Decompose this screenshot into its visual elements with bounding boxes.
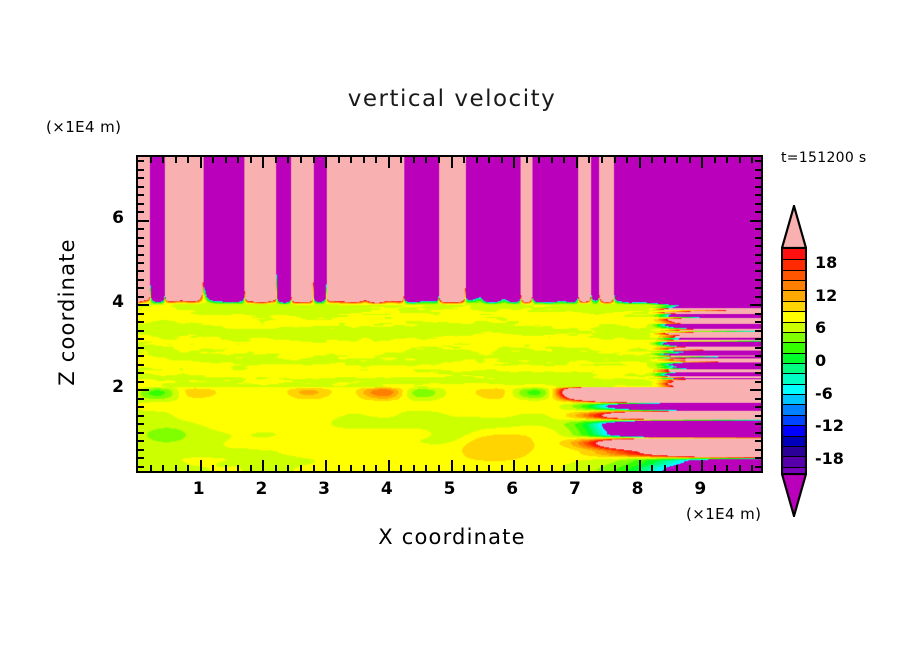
time-stamp-label: t=151200 s — [781, 150, 866, 166]
axis-tick-minor — [588, 465, 590, 471]
axis-tick-minor — [375, 157, 377, 163]
axis-tick-minor — [138, 228, 144, 230]
axis-tick-minor — [138, 381, 144, 383]
colorbar-band-separator — [783, 280, 805, 281]
axis-tick-minor — [463, 157, 465, 163]
colorbar-band — [783, 425, 805, 436]
colorbar-band-separator — [783, 311, 805, 312]
x-axis-title: X coordinate — [0, 525, 904, 549]
colorbar-band — [783, 311, 805, 322]
axis-tick-minor — [438, 465, 440, 471]
colorbar-tick-label: 18 — [815, 253, 837, 272]
axis-tick-minor — [755, 406, 761, 408]
axis-tick-major — [262, 460, 264, 471]
axis-tick-minor — [526, 465, 528, 471]
colorbar-tick-label: -12 — [815, 416, 844, 435]
colorbar-band-separator — [783, 384, 805, 385]
axis-tick-minor — [726, 465, 728, 471]
axis-tick-major — [200, 157, 202, 168]
axis-tick-minor — [755, 237, 761, 239]
colorbar-band — [783, 290, 805, 301]
axis-tick-minor — [138, 262, 144, 264]
x-tick-label: 6 — [497, 479, 527, 499]
axis-tick-minor — [601, 465, 603, 471]
axis-tick-minor — [488, 465, 490, 471]
axis-tick-minor — [250, 465, 252, 471]
axis-tick-minor — [689, 465, 691, 471]
page-title: vertical velocity — [0, 86, 904, 112]
axis-tick-minor — [138, 186, 144, 188]
colorbar-under-range-arrow-icon — [781, 473, 807, 517]
axis-tick-minor — [755, 279, 761, 281]
axis-tick-minor — [664, 465, 666, 471]
z-axis-unit-label: (×1E4 m) — [46, 118, 121, 136]
axis-tick-minor — [739, 157, 741, 163]
axis-tick-minor — [755, 262, 761, 264]
axis-tick-minor — [755, 228, 761, 230]
axis-tick-minor — [138, 338, 144, 340]
axis-tick-major — [388, 157, 390, 168]
axis-tick-minor — [138, 355, 144, 357]
axis-tick-minor — [138, 466, 144, 468]
axis-tick-major — [138, 304, 149, 306]
axis-tick-minor — [212, 465, 214, 471]
axis-tick-minor — [614, 465, 616, 471]
axis-tick-major — [138, 220, 149, 222]
colorbar-band-separator — [783, 456, 805, 457]
colorbar-band — [783, 436, 805, 447]
axis-tick-major — [750, 220, 761, 222]
axis-tick-minor — [138, 211, 144, 213]
axis-tick-minor — [138, 287, 144, 289]
axis-tick-minor — [138, 270, 144, 272]
axis-tick-minor — [614, 157, 616, 163]
axis-tick-minor — [413, 157, 415, 163]
axis-tick-minor — [138, 347, 144, 349]
axis-tick-minor — [689, 157, 691, 163]
axis-tick-minor — [138, 169, 144, 171]
axis-tick-minor — [714, 157, 716, 163]
axis-tick-minor — [138, 398, 144, 400]
x-axis-unit-label: (×1E4 m) — [686, 505, 761, 523]
x-tick-label: 5 — [435, 479, 465, 499]
axis-tick-minor — [350, 157, 352, 163]
axis-tick-minor — [755, 415, 761, 417]
axis-tick-minor — [755, 245, 761, 247]
axis-tick-minor — [755, 347, 761, 349]
axis-tick-minor — [162, 465, 164, 471]
colorbar-band-separator — [783, 373, 805, 374]
axis-tick-minor — [551, 465, 553, 471]
colorbar-band — [783, 332, 805, 343]
colorbar-band — [783, 363, 805, 374]
axis-tick-major — [262, 157, 264, 168]
axis-tick-minor — [225, 465, 227, 471]
colorbar-tick-label: 12 — [815, 286, 837, 305]
axis-tick-minor — [476, 465, 478, 471]
x-tick-label: 4 — [372, 479, 402, 499]
axis-tick-major — [750, 304, 761, 306]
axis-tick-major — [750, 389, 761, 391]
axis-tick-minor — [338, 157, 340, 163]
axis-tick-minor — [313, 465, 315, 471]
contour-plot-area — [136, 155, 763, 473]
colorbar-band-separator — [783, 290, 805, 291]
colorbar-band-separator — [783, 446, 805, 447]
colorbar-band — [783, 353, 805, 364]
axis-tick-minor — [755, 355, 761, 357]
colorbar-band — [783, 342, 805, 353]
axis-tick-minor — [726, 157, 728, 163]
axis-tick-minor — [755, 364, 761, 366]
axis-tick-minor — [588, 157, 590, 163]
colorbar-band-separator — [783, 270, 805, 271]
axis-tick-minor — [250, 157, 252, 163]
axis-tick-minor — [138, 279, 144, 281]
axis-tick-major — [138, 389, 149, 391]
colorbar-band-separator — [783, 394, 805, 395]
x-tick-label: 9 — [685, 479, 715, 499]
axis-tick-minor — [626, 157, 628, 163]
axis-tick-minor — [413, 465, 415, 471]
colorbar-band — [783, 415, 805, 426]
colorbar-band-separator — [783, 436, 805, 437]
colorbar-band-separator — [783, 467, 805, 468]
colorbar-bands — [781, 247, 807, 475]
axis-tick-minor — [714, 465, 716, 471]
axis-tick-minor — [755, 432, 761, 434]
axis-tick-minor — [400, 465, 402, 471]
y-axis-title: Z coordinate — [55, 202, 79, 422]
axis-tick-minor — [651, 465, 653, 471]
axis-tick-major — [513, 460, 515, 471]
axis-tick-minor — [363, 465, 365, 471]
colorbar-band-separator — [783, 342, 805, 343]
x-tick-label: 7 — [560, 479, 590, 499]
axis-tick-major — [701, 157, 703, 168]
axis-tick-minor — [138, 296, 144, 298]
axis-tick-minor — [275, 465, 277, 471]
axis-tick-minor — [601, 157, 603, 163]
colorbar-tick-label: -6 — [815, 384, 833, 403]
axis-tick-minor — [187, 465, 189, 471]
axis-tick-minor — [150, 157, 152, 163]
colorbar-band-separator — [783, 425, 805, 426]
colorbar-band — [783, 394, 805, 405]
axis-tick-minor — [651, 157, 653, 163]
colorbar-tick-label: 6 — [815, 318, 826, 337]
colorbar-band-separator — [783, 322, 805, 323]
axis-tick-major — [513, 157, 515, 168]
colorbar-band-separator — [783, 259, 805, 260]
y-tick-label: 6 — [100, 208, 124, 228]
axis-tick-minor — [138, 449, 144, 451]
axis-tick-minor — [138, 415, 144, 417]
axis-tick-minor — [237, 157, 239, 163]
axis-tick-minor — [755, 296, 761, 298]
axis-tick-minor — [425, 157, 427, 163]
y-tick-label: 4 — [100, 292, 124, 312]
axis-tick-minor — [138, 372, 144, 374]
axis-tick-minor — [138, 194, 144, 196]
axis-tick-minor — [175, 465, 177, 471]
axis-tick-minor — [138, 177, 144, 179]
axis-tick-major — [701, 460, 703, 471]
axis-tick-minor — [350, 465, 352, 471]
axis-tick-minor — [138, 245, 144, 247]
colorbar-band — [783, 384, 805, 395]
axis-tick-minor — [538, 157, 540, 163]
axis-tick-minor — [755, 287, 761, 289]
axis-tick-minor — [237, 465, 239, 471]
colorbar-band — [783, 249, 805, 260]
axis-tick-minor — [755, 254, 761, 256]
axis-tick-minor — [138, 237, 144, 239]
axis-tick-major — [576, 460, 578, 471]
axis-tick-major — [451, 157, 453, 168]
x-tick-label: 8 — [623, 479, 653, 499]
axis-tick-minor — [755, 270, 761, 272]
axis-tick-minor — [755, 321, 761, 323]
axis-tick-minor — [755, 160, 761, 162]
axis-tick-minor — [438, 157, 440, 163]
colorbar-band — [783, 322, 805, 333]
axis-tick-minor — [526, 157, 528, 163]
axis-tick-minor — [755, 313, 761, 315]
axis-tick-minor — [425, 465, 427, 471]
axis-tick-minor — [313, 157, 315, 163]
axis-tick-minor — [300, 465, 302, 471]
axis-tick-minor — [138, 254, 144, 256]
axis-tick-minor — [138, 423, 144, 425]
axis-tick-minor — [755, 423, 761, 425]
axis-tick-minor — [476, 157, 478, 163]
axis-tick-minor — [751, 465, 753, 471]
axis-tick-minor — [138, 330, 144, 332]
axis-tick-minor — [138, 321, 144, 323]
axis-tick-minor — [501, 157, 503, 163]
axis-tick-minor — [755, 338, 761, 340]
colorbar-band — [783, 259, 805, 270]
axis-tick-minor — [563, 157, 565, 163]
colorbar-band-separator — [783, 415, 805, 416]
axis-tick-minor — [275, 157, 277, 163]
axis-tick-minor — [755, 440, 761, 442]
axis-tick-major — [200, 460, 202, 471]
colorbar-tick-label: -18 — [815, 449, 844, 468]
axis-tick-minor — [626, 465, 628, 471]
axis-tick-minor — [162, 157, 164, 163]
colorbar: 181260-6-12-18 — [781, 205, 807, 515]
axis-tick-minor — [755, 203, 761, 205]
axis-tick-major — [639, 460, 641, 471]
axis-tick-minor — [338, 465, 340, 471]
colorbar-band — [783, 404, 805, 415]
axis-tick-minor — [755, 381, 761, 383]
colorbar-band-separator — [783, 332, 805, 333]
colorbar-band — [783, 270, 805, 281]
colorbar-band — [783, 446, 805, 457]
axis-tick-major — [325, 460, 327, 471]
axis-tick-minor — [538, 465, 540, 471]
vertical-velocity-field — [138, 157, 761, 471]
axis-tick-minor — [751, 157, 753, 163]
axis-tick-minor — [138, 203, 144, 205]
axis-tick-minor — [676, 157, 678, 163]
colorbar-band-separator — [783, 301, 805, 302]
colorbar-band — [783, 373, 805, 384]
axis-tick-minor — [463, 465, 465, 471]
axis-tick-minor — [676, 465, 678, 471]
axis-tick-minor — [755, 466, 761, 468]
axis-tick-minor — [138, 440, 144, 442]
axis-tick-minor — [225, 157, 227, 163]
x-tick-label: 3 — [309, 479, 339, 499]
axis-tick-minor — [138, 457, 144, 459]
axis-tick-minor — [755, 177, 761, 179]
axis-tick-minor — [375, 465, 377, 471]
axis-tick-minor — [739, 465, 741, 471]
colorbar-band-separator — [783, 404, 805, 405]
axis-tick-minor — [138, 160, 144, 162]
colorbar-band — [783, 456, 805, 467]
axis-tick-minor — [138, 313, 144, 315]
colorbar-band-separator — [783, 363, 805, 364]
colorbar-band — [783, 280, 805, 291]
axis-tick-major — [639, 157, 641, 168]
axis-tick-minor — [150, 465, 152, 471]
axis-tick-minor — [755, 194, 761, 196]
axis-tick-major — [576, 157, 578, 168]
axis-tick-major — [451, 460, 453, 471]
colorbar-over-range-arrow-icon — [781, 205, 807, 249]
axis-tick-minor — [755, 449, 761, 451]
axis-tick-minor — [363, 157, 365, 163]
axis-tick-minor — [287, 157, 289, 163]
axis-tick-minor — [138, 364, 144, 366]
axis-tick-minor — [488, 157, 490, 163]
axis-tick-minor — [755, 169, 761, 171]
x-tick-label: 2 — [246, 479, 276, 499]
colorbar-band-separator — [783, 353, 805, 354]
axis-tick-minor — [187, 157, 189, 163]
axis-tick-minor — [664, 157, 666, 163]
axis-tick-minor — [563, 465, 565, 471]
axis-tick-minor — [755, 186, 761, 188]
axis-tick-minor — [755, 211, 761, 213]
axis-tick-major — [325, 157, 327, 168]
axis-tick-minor — [755, 330, 761, 332]
axis-tick-minor — [400, 157, 402, 163]
axis-tick-minor — [138, 432, 144, 434]
colorbar-tick-label: 0 — [815, 351, 826, 370]
axis-tick-minor — [501, 465, 503, 471]
axis-tick-major — [388, 460, 390, 471]
y-tick-label: 2 — [100, 377, 124, 397]
axis-tick-minor — [175, 157, 177, 163]
x-tick-label: 1 — [184, 479, 214, 499]
colorbar-band — [783, 301, 805, 312]
axis-tick-minor — [287, 465, 289, 471]
axis-tick-minor — [551, 157, 553, 163]
axis-tick-minor — [755, 398, 761, 400]
axis-tick-minor — [138, 406, 144, 408]
axis-tick-minor — [212, 157, 214, 163]
axis-tick-minor — [755, 457, 761, 459]
axis-tick-minor — [300, 157, 302, 163]
axis-tick-minor — [755, 372, 761, 374]
